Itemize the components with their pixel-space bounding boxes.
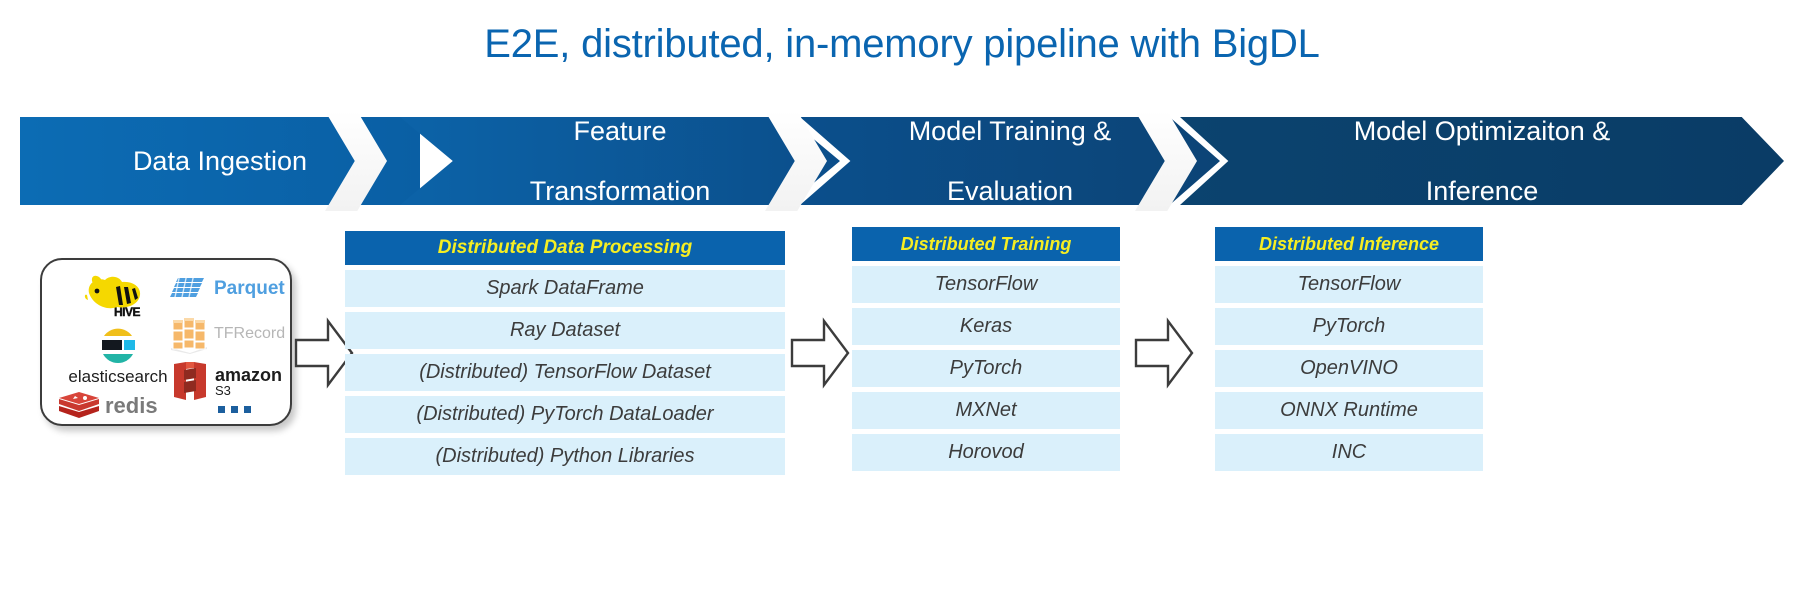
- flow-arrow-icon: [790, 315, 850, 391]
- table-row[interactable]: Ray Dataset: [345, 312, 785, 349]
- table-row[interactable]: Keras: [852, 308, 1120, 345]
- table-row[interactable]: OpenVINO: [1215, 350, 1483, 387]
- pipeline-stage-label-line1: Model Optimizaiton &: [1180, 116, 1784, 146]
- amazon-s3-label-group: amazon S3: [215, 366, 282, 397]
- distributed-data-processing-table: Distributed Data Processing Spark DataFr…: [345, 231, 785, 475]
- distributed-inference-table: Distributed Inference TensorFlow PyTorch…: [1215, 227, 1483, 471]
- data-sources-card: HIVE elasticsearch redis: [40, 258, 292, 426]
- pipeline-banner: Data Ingestion Feature Transformation Mo…: [20, 117, 1784, 205]
- redis-stack-icon: [58, 391, 100, 421]
- sources-ellipsis-icon: [218, 406, 251, 413]
- pipeline-stage-feature-transformation[interactable]: Feature Transformation: [400, 117, 840, 205]
- page-title: E2E, distributed, in-memory pipeline wit…: [0, 22, 1804, 67]
- redis-logo-label: redis: [105, 393, 158, 419]
- table-row[interactable]: TensorFlow: [1215, 266, 1483, 303]
- distributed-training-table: Distributed Training TensorFlow Keras Py…: [852, 227, 1120, 471]
- parquet-mark-icon: [170, 275, 210, 303]
- parquet-logo: Parquet: [170, 270, 290, 308]
- amazon-s3-logo: amazon S3: [170, 358, 292, 404]
- pipeline-stage-label-line2: Inference: [1180, 176, 1784, 206]
- tfrecord-logo: TFRecord: [168, 312, 292, 356]
- elasticsearch-logo: elasticsearch: [54, 326, 182, 388]
- table-row[interactable]: ONNX Runtime: [1215, 392, 1483, 429]
- table-row[interactable]: Spark DataFrame: [345, 270, 785, 307]
- flow-arrow-icon: [1134, 315, 1194, 391]
- tfrecord-logo-label: TFRecord: [214, 325, 285, 343]
- amazon-s3-label-line1: amazon: [215, 366, 282, 384]
- table-row[interactable]: MXNet: [852, 392, 1120, 429]
- table-header: Distributed Data Processing: [345, 231, 785, 265]
- parquet-logo-label: Parquet: [214, 278, 285, 300]
- amazon-s3-label-line2: S3: [215, 384, 282, 397]
- table-row[interactable]: PyTorch: [1215, 308, 1483, 345]
- table-row[interactable]: (Distributed) PyTorch DataLoader: [345, 396, 785, 433]
- table-row[interactable]: INC: [1215, 434, 1483, 471]
- amazon-s3-bucket-icon: [170, 360, 210, 402]
- table-header: Distributed Inference: [1215, 227, 1483, 261]
- table-row[interactable]: Horovod: [852, 434, 1120, 471]
- hive-logo: HIVE: [64, 268, 172, 324]
- table-row[interactable]: (Distributed) Python Libraries: [345, 438, 785, 475]
- redis-logo: redis: [58, 388, 188, 424]
- table-row[interactable]: (Distributed) TensorFlow Dataset: [345, 354, 785, 391]
- tfrecord-cubes-icon: [168, 314, 210, 354]
- elasticsearch-mark-icon: [99, 327, 137, 365]
- table-row[interactable]: TensorFlow: [852, 266, 1120, 303]
- hive-bee-icon: [83, 273, 153, 317]
- pipeline-stage-model-optimization-inference[interactable]: Model Optimizaiton & Inference: [1180, 117, 1784, 205]
- table-row[interactable]: PyTorch: [852, 350, 1120, 387]
- elasticsearch-logo-label: elasticsearch: [68, 367, 167, 387]
- table-header: Distributed Training: [852, 227, 1120, 261]
